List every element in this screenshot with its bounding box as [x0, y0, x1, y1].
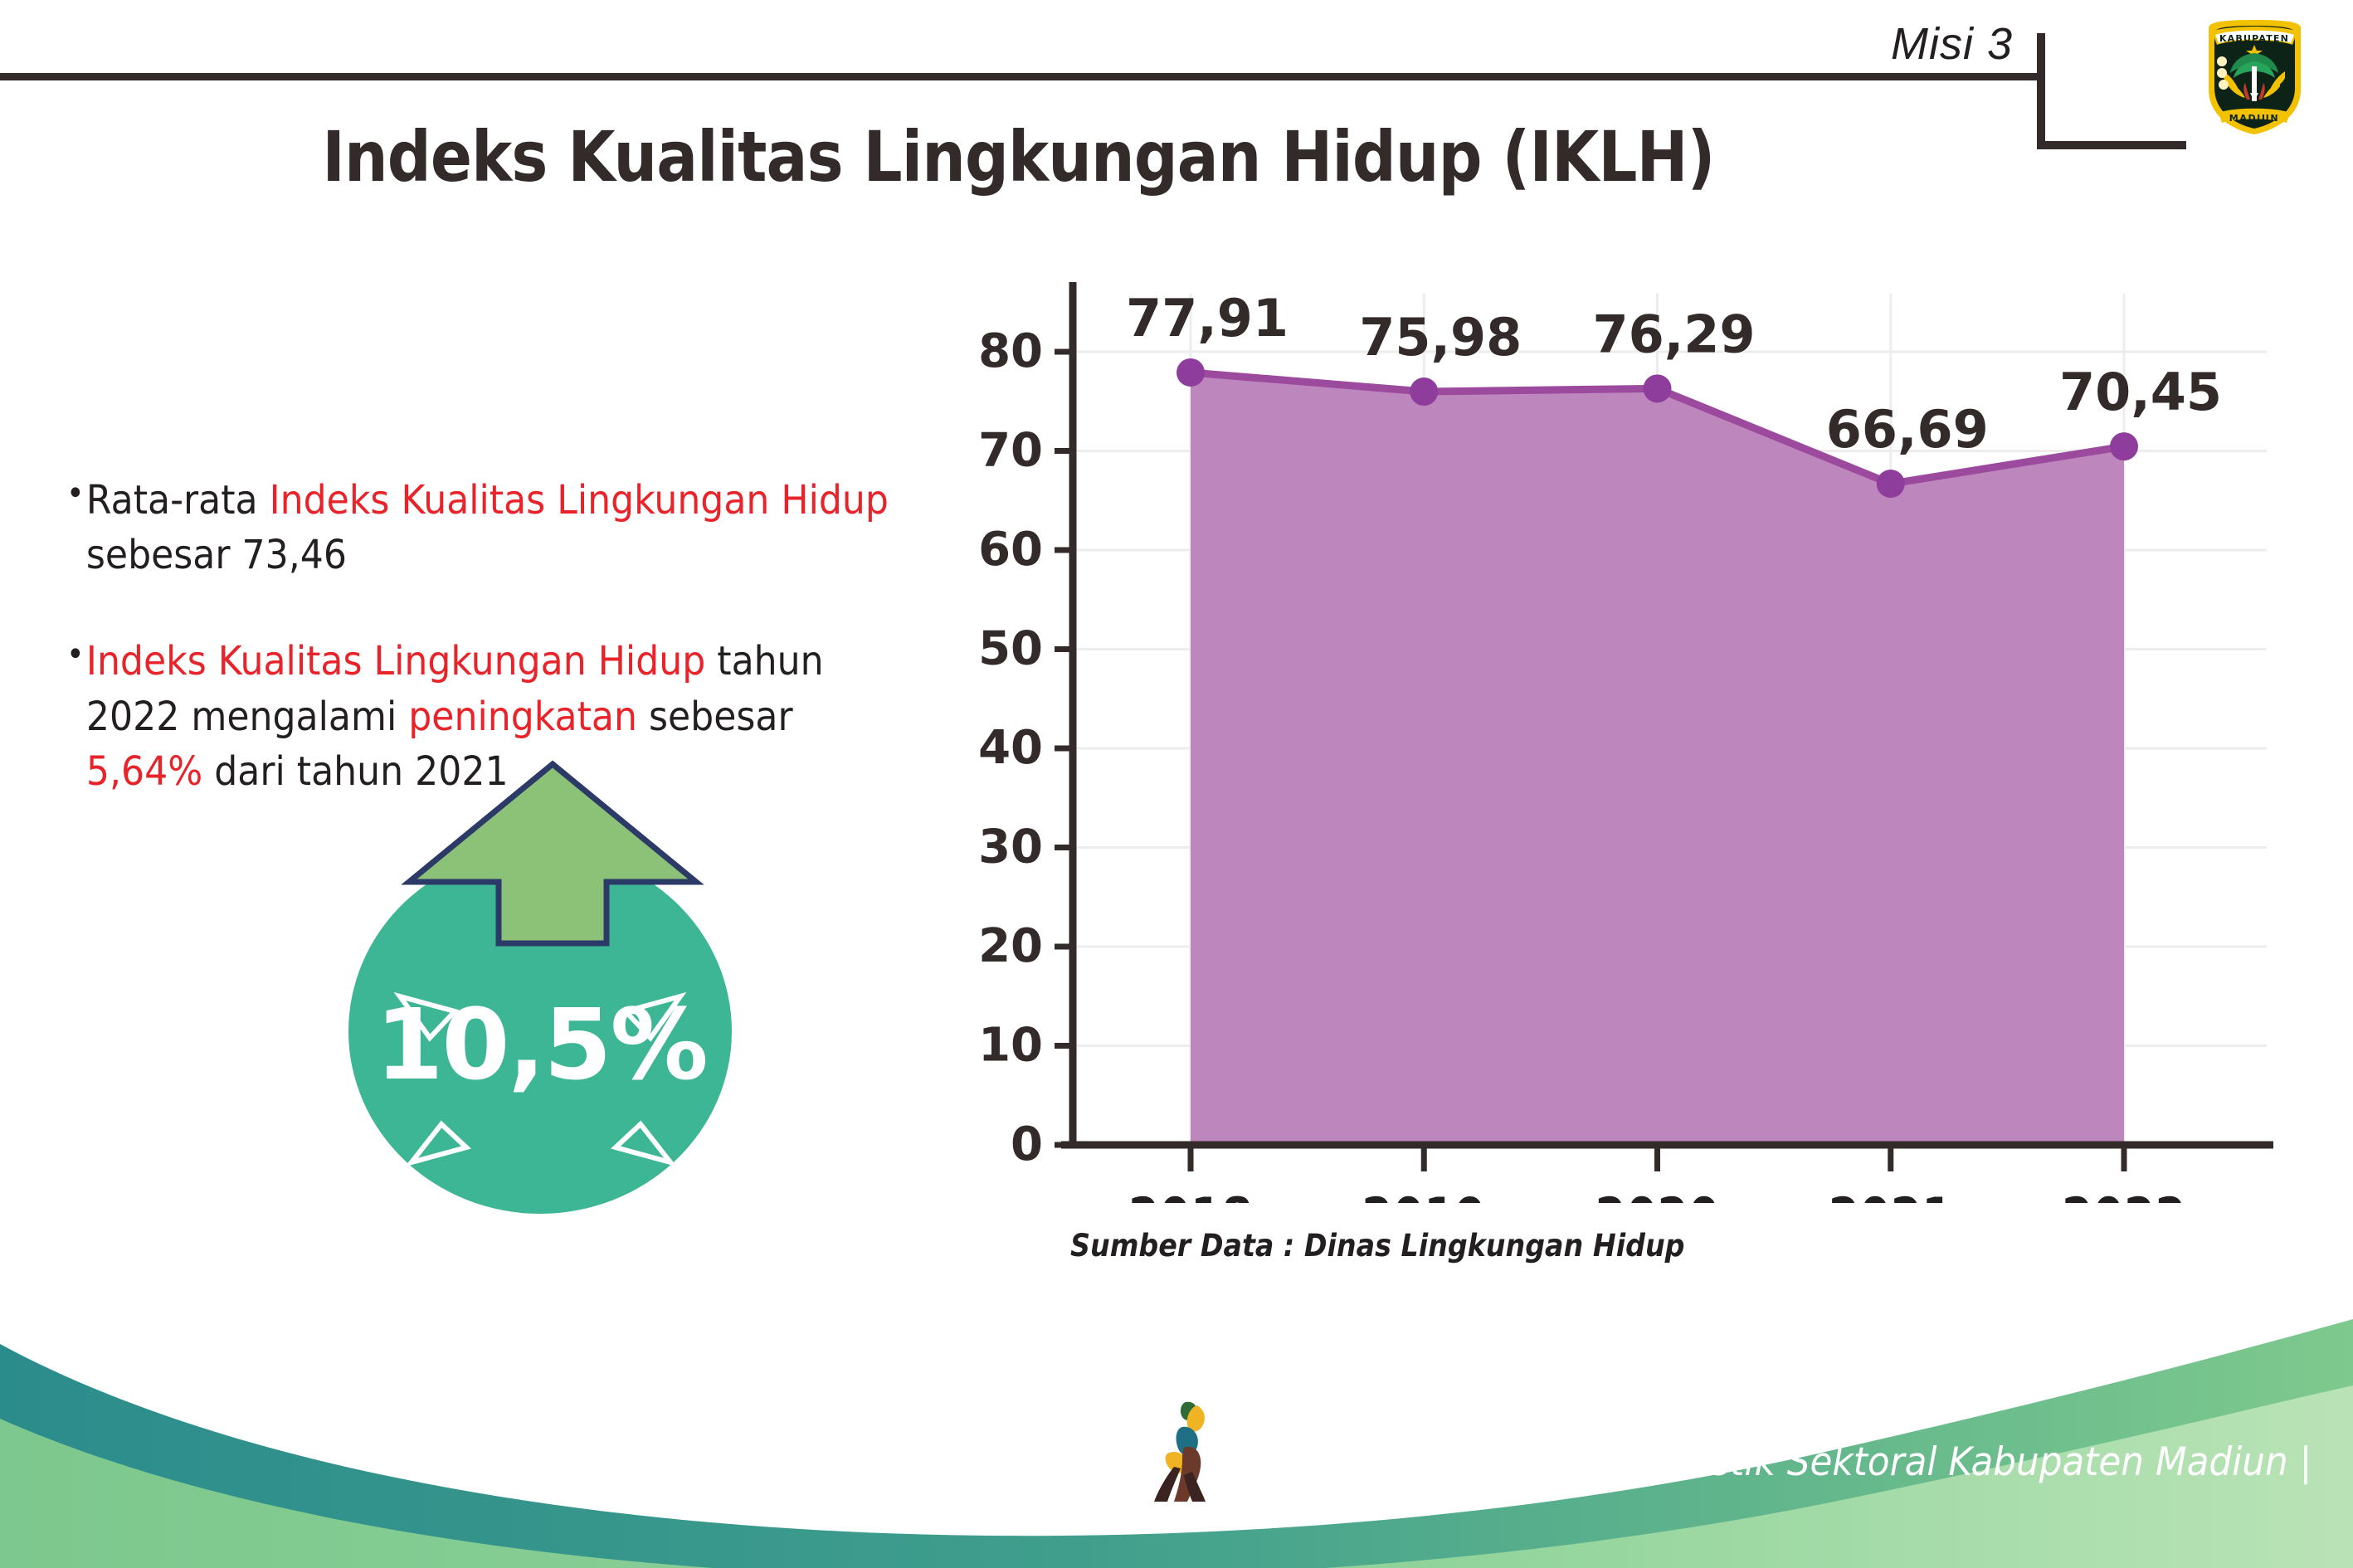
header-bracket-vertical [2037, 33, 2045, 149]
statistik-sektoral-logo-icon [1149, 1392, 1232, 1508]
bullet-2-part-5: 5,64% [86, 748, 202, 795]
up-arrow-icon [399, 759, 706, 967]
bullet-1-part-1: Rata-rata [86, 477, 270, 523]
y-tick-label: 10 [978, 1019, 1043, 1073]
y-tick-label: 80 [978, 324, 1043, 378]
x-tick-label: 2019 [1362, 1186, 1486, 1203]
y-tick-label: 20 [978, 919, 1043, 973]
data-label: 77,91 [1126, 288, 1289, 348]
list-item: Rata-rata Indeks Kualitas Lingkungan Hid… [66, 473, 891, 582]
data-point-marker [1644, 374, 1672, 402]
source-note: Sumber Data : Dinas Lingkungan Hidup [1070, 1228, 1684, 1264]
bullet-2-part-1: Indeks Kualitas Lingkungan Hidup [86, 638, 705, 684]
y-tick-label: 30 [978, 821, 1043, 874]
footer-caption: Media Infografis Data Statistik Sektoral… [1226, 1439, 2312, 1485]
data-label: 76,29 [1592, 304, 1755, 364]
y-tick-label: 40 [978, 721, 1043, 775]
svg-text:KABUPATEN: KABUPATEN [2219, 33, 2289, 44]
data-label: 66,69 [1826, 399, 1989, 460]
bullet-2-part-4: sebesar [637, 694, 793, 740]
iklh-area-chart: 010203040506070802018201920202021202277,… [954, 274, 2282, 1203]
data-point-marker [1176, 358, 1205, 387]
x-tick-label: 2020 [1595, 1186, 1720, 1203]
y-tick-label: 0 [1011, 1118, 1043, 1171]
y-tick-label: 50 [978, 622, 1043, 676]
chart-canvas: 010203040506070802018201920202021202277,… [954, 274, 2282, 1203]
x-tick-label: 2021 [1829, 1186, 1953, 1203]
data-point-marker [1410, 377, 1438, 406]
bullet-1-part-3: sebesar 73,46 [86, 532, 347, 578]
increase-badge: 10,5% [328, 759, 780, 1224]
data-label: 75,98 [1359, 307, 1522, 368]
bullet-2-part-3: peningkatan [408, 694, 637, 740]
x-tick-label: 2022 [2062, 1186, 2186, 1203]
y-tick-label: 60 [978, 523, 1043, 577]
bullet-1-part-2: Indeks Kualitas Lingkungan Hidup [270, 477, 889, 523]
kabupaten-madiun-crest-icon: KABUPATEN MADIUN [2199, 13, 2311, 138]
data-label: 70,45 [2059, 362, 2222, 422]
page-title: Indeks Kualitas Lingkungan Hidup (IKLH) [122, 116, 1914, 197]
infographic-slide: Misi 3 KABUPATEN MADIUN Indeks K [0, 0, 2353, 1568]
x-tick-label: 2018 [1128, 1186, 1253, 1203]
data-point-marker [2110, 432, 2138, 460]
header-bracket-horizontal [2037, 141, 2186, 149]
svg-text:MADIUN: MADIUN [2229, 113, 2279, 124]
data-point-marker [1877, 470, 1905, 498]
misi-label: Misi 3 [1891, 18, 2013, 70]
area-fill [1191, 373, 2124, 1145]
header-rule [0, 73, 2037, 80]
y-tick-label: 70 [978, 424, 1043, 478]
footer-waves: Media Infografis Data Statistik Sektoral… [0, 1294, 2353, 1568]
badge-value: 10,5% [363, 987, 719, 1102]
